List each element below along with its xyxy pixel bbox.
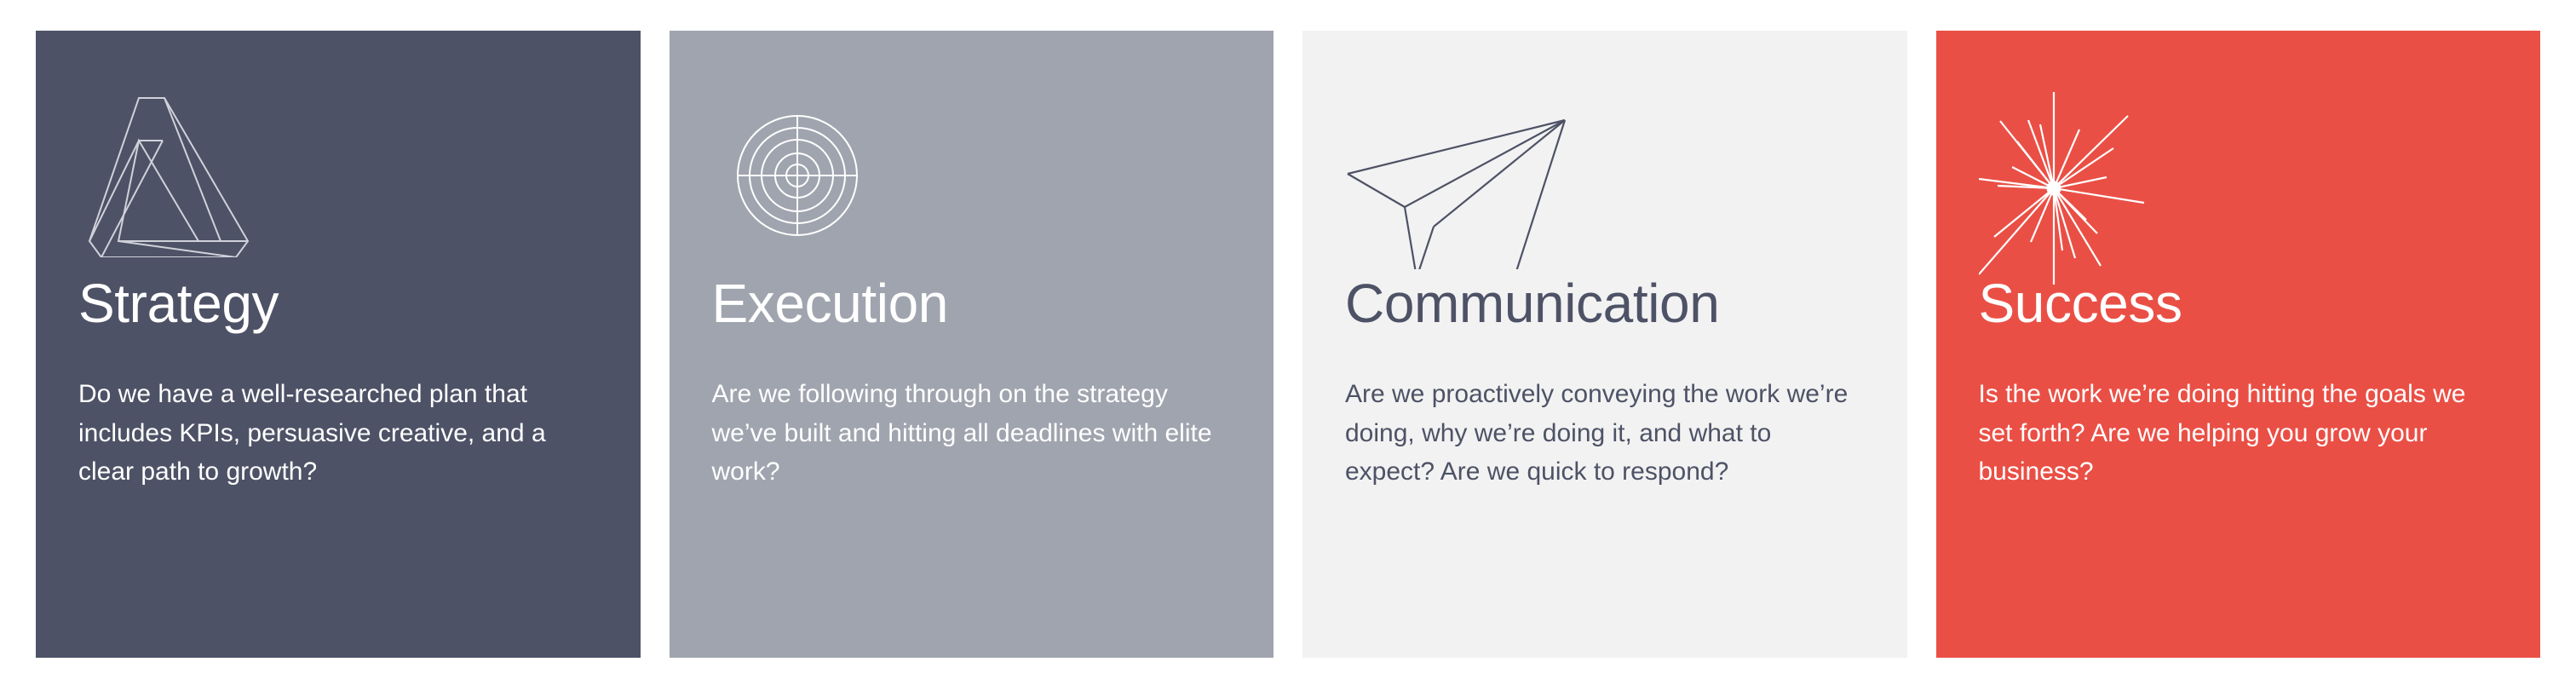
pillars-card-grid: Strategy Do we have a well-researched pl… bbox=[0, 0, 2576, 685]
penrose-triangle-icon bbox=[78, 90, 259, 257]
card-strategy[interactable]: Strategy Do we have a well-researched pl… bbox=[36, 31, 641, 658]
target-crosshair-icon bbox=[712, 90, 883, 261]
card-communication-icon-slot bbox=[1345, 75, 1865, 276]
card-communication[interactable]: Communication Are we proactively conveyi… bbox=[1302, 31, 1907, 658]
card-strategy-body: Do we have a well-researched plan that i… bbox=[78, 375, 598, 492]
card-execution[interactable]: Execution Are we following through on th… bbox=[670, 31, 1274, 658]
card-communication-title: Communication bbox=[1345, 276, 1865, 331]
card-execution-icon-slot bbox=[712, 75, 1232, 276]
card-strategy-title: Strategy bbox=[78, 276, 598, 331]
card-success-title: Success bbox=[1979, 276, 2498, 331]
card-execution-title: Execution bbox=[712, 276, 1232, 331]
card-success-icon-slot bbox=[1979, 75, 2498, 276]
card-success[interactable]: Success Is the work we’re doing hitting … bbox=[1936, 31, 2541, 658]
card-success-body: Is the work we’re doing hitting the goal… bbox=[1979, 375, 2498, 492]
paper-plane-icon bbox=[1345, 90, 1601, 269]
card-execution-body: Are we following through on the strategy… bbox=[712, 375, 1232, 492]
card-communication-body: Are we proactively conveying the work we… bbox=[1345, 375, 1865, 492]
card-strategy-icon-slot bbox=[78, 75, 598, 276]
starburst-icon bbox=[1979, 90, 2183, 286]
